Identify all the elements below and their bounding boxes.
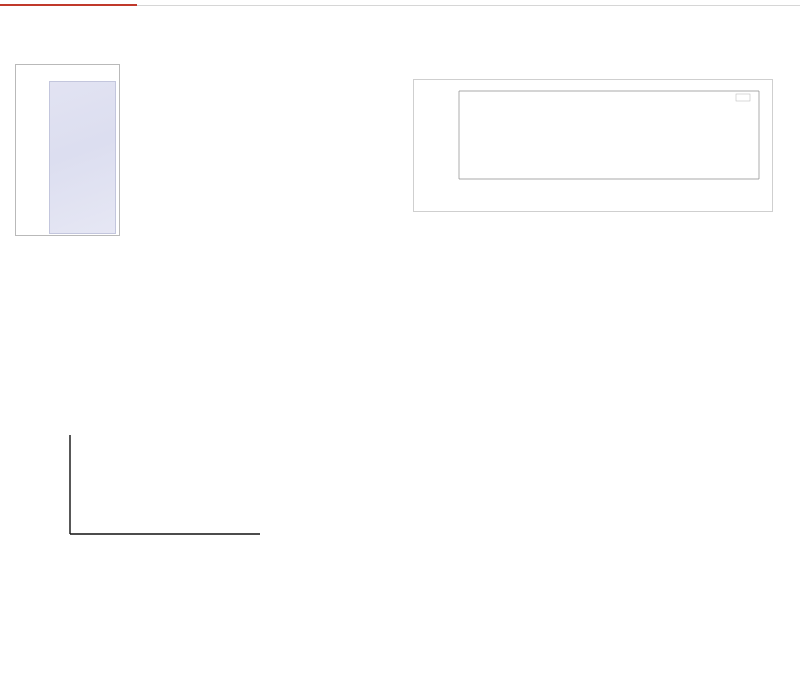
top-divider-bar: [0, 4, 800, 7]
section-heading-sds-page: [8, 33, 14, 53]
gel-ladder-labels: [20, 83, 46, 233]
gel-slab: [49, 81, 116, 234]
sec-mals-chart-image: [413, 79, 773, 212]
section-heading-sec-mals: [426, 33, 432, 53]
top-accent-rule: [0, 4, 137, 6]
section-heading-bioactivity: [8, 371, 14, 391]
top-gray-rule: [137, 5, 800, 6]
elisa-chart-image: [28, 404, 278, 572]
sds-page-gel-image: [15, 64, 120, 236]
sec-legend: [736, 94, 750, 101]
